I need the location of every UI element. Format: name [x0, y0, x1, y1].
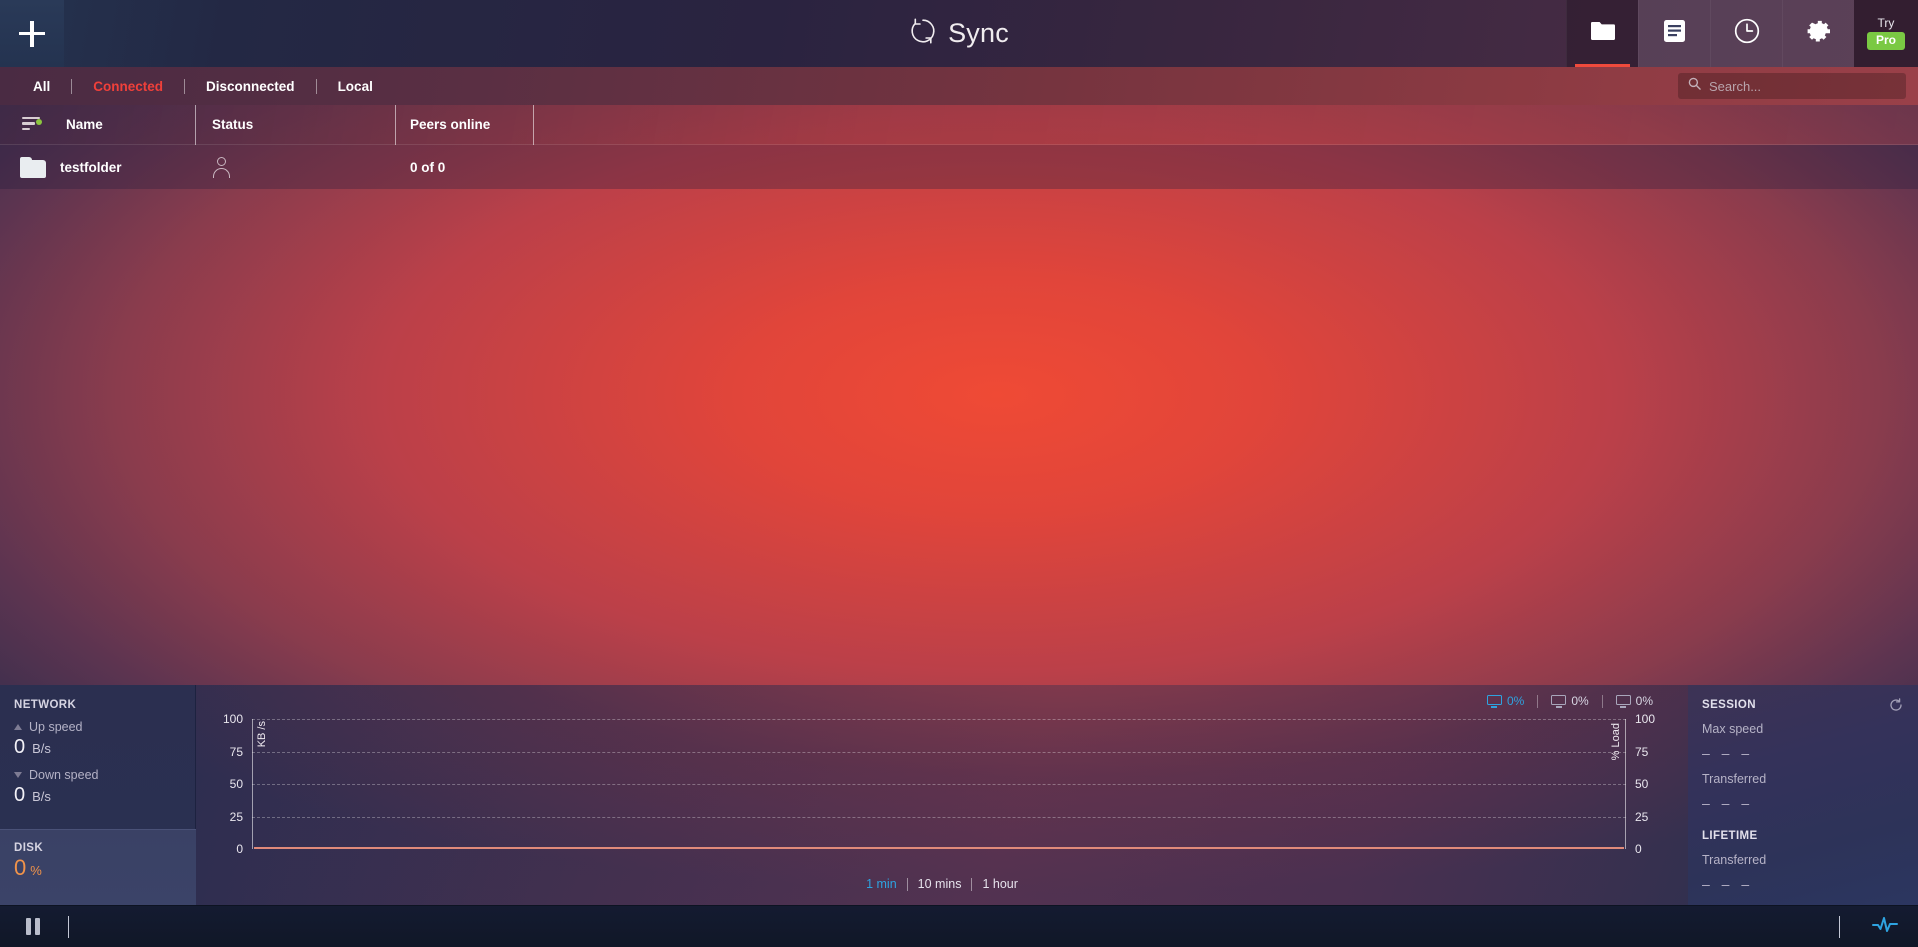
cell-name: testfolder [0, 157, 196, 178]
disk-unit: % [30, 863, 42, 878]
arrow-down-icon [14, 772, 22, 778]
session-max-speed-value: – – – [1702, 745, 1918, 761]
top-tab-group: Try Pro [1566, 0, 1918, 67]
filter-connected[interactable]: Connected [72, 79, 184, 94]
time-range-selector: 1 min 10 mins 1 hour [196, 877, 1688, 891]
status-bar-right [1839, 914, 1900, 940]
sync-app-window: Sync [0, 0, 1918, 947]
tab-history[interactable] [1710, 0, 1782, 67]
y-axis-left-label: KB /s [256, 721, 268, 747]
session-transferred-label: Transferred [1702, 772, 1918, 786]
gridline [252, 817, 1626, 818]
filter-group: All Connected Disconnected Local [0, 79, 394, 94]
document-list-icon [1664, 20, 1685, 47]
y-tick-right: 75 [1635, 745, 1648, 759]
try-pro-button[interactable]: Try Pro [1854, 0, 1918, 67]
status-bar [0, 905, 1918, 947]
y-tick-left: 50 [230, 777, 243, 791]
tab-devices[interactable] [1638, 0, 1710, 67]
gridline [252, 784, 1626, 785]
bandwidth-chart-panel: 0% 0% 0% 100 [196, 685, 1688, 905]
sort-active-dot [36, 119, 42, 125]
activity-graph-button[interactable] [1870, 914, 1900, 940]
column-header-peers-online[interactable]: Peers online [396, 105, 534, 145]
main-content: Name Status Peers online testfolder 0 of… [0, 105, 1918, 685]
y-tick-left: 75 [230, 745, 243, 759]
tab-folders[interactable] [1566, 0, 1638, 67]
session-caption: SESSION [1702, 699, 1918, 711]
up-speed-value: 0 [14, 736, 25, 759]
status-divider [1839, 916, 1840, 938]
y-axis-right-label: % Load [1610, 723, 1622, 760]
disk-value: 0 [14, 855, 26, 881]
disk-caption: DISK [14, 842, 196, 854]
pro-badge: Pro [1867, 32, 1905, 50]
status-divider [68, 916, 69, 938]
up-speed-label: Up speed [29, 720, 83, 734]
up-speed-value-row: 0 B/s [14, 736, 195, 759]
folder-table-header: Name Status Peers online [0, 105, 1918, 145]
legend-item[interactable]: 0% [1538, 694, 1601, 708]
tab-preferences[interactable] [1782, 0, 1854, 67]
sync-circle-arrow-icon [909, 17, 937, 50]
disk-panel: DISK 0 % [0, 829, 196, 905]
plus-icon [19, 21, 45, 47]
y-tick-right: 0 [1635, 842, 1642, 856]
try-label: Try [1878, 17, 1895, 29]
y-tick-right: 50 [1635, 777, 1648, 791]
folder-icon [1591, 21, 1615, 46]
filter-all[interactable]: All [12, 79, 71, 94]
session-panel: SESSION Max speed – – – Transferred – – … [1688, 685, 1918, 905]
search-icon [1688, 77, 1701, 95]
cell-status [196, 157, 396, 177]
legend-value: 0% [1507, 694, 1524, 708]
session-transferred-value: – – – [1702, 795, 1918, 811]
search-box[interactable] [1678, 73, 1906, 99]
time-range-1-min[interactable]: 1 min [856, 877, 907, 891]
folder-icon [20, 157, 46, 178]
arrow-up-icon [14, 724, 22, 730]
reset-arrow-icon[interactable] [1889, 698, 1903, 712]
up-speed-unit: B/s [32, 741, 51, 756]
session-max-speed-label: Max speed [1702, 722, 1918, 736]
app-title: Sync [948, 18, 1009, 49]
filter-disconnected[interactable]: Disconnected [185, 79, 316, 94]
y-tick-right: 100 [1635, 712, 1655, 726]
filter-bar: All Connected Disconnected Local [0, 67, 1918, 105]
activity-graph-icon [1872, 915, 1898, 938]
time-range-1-hour[interactable]: 1 hour [972, 877, 1027, 891]
time-range-10-mins[interactable]: 10 mins [908, 877, 972, 891]
down-speed-value: 0 [14, 784, 25, 807]
filter-local[interactable]: Local [317, 79, 394, 94]
up-speed-label-row: Up speed [14, 720, 195, 734]
clock-history-icon [1734, 18, 1760, 49]
pause-icon [26, 918, 40, 935]
gear-settings-icon [1806, 18, 1832, 49]
network-panel: NETWORK Up speed 0 B/s Down speed 0 B/s [0, 685, 196, 905]
chart-legend: 0% 0% 0% [1474, 694, 1666, 708]
gridline [252, 719, 1626, 720]
person-icon [212, 157, 230, 177]
y-tick-left: 25 [230, 810, 243, 824]
y-tick-right: 25 [1635, 810, 1648, 824]
legend-item[interactable]: 0% [1603, 694, 1666, 708]
disk-value-row: 0 % [14, 855, 196, 881]
add-folder-button[interactable] [0, 0, 64, 67]
down-speed-unit: B/s [32, 789, 51, 804]
legend-item[interactable]: 0% [1474, 694, 1537, 708]
monitor-icon [1487, 695, 1502, 708]
monitor-icon [1616, 695, 1631, 708]
down-speed-value-row: 0 B/s [14, 784, 195, 807]
speed-series-line [254, 847, 1624, 849]
top-bar: Sync [0, 0, 1918, 67]
down-speed-label-row: Down speed [14, 768, 195, 782]
gridline [252, 752, 1626, 753]
search-input[interactable] [1709, 79, 1896, 94]
network-caption: NETWORK [14, 699, 195, 711]
stats-row: NETWORK Up speed 0 B/s Down speed 0 B/s [0, 685, 1918, 905]
legend-value: 0% [1636, 694, 1653, 708]
cell-peers-online: 0 of 0 [396, 160, 534, 175]
y-tick-left: 0 [236, 842, 243, 856]
lifetime-transferred-label: Transferred [1702, 853, 1918, 867]
table-row[interactable]: testfolder 0 of 0 [0, 145, 1918, 189]
column-header-status[interactable]: Status [196, 105, 396, 145]
down-speed-label: Down speed [29, 768, 99, 782]
lifetime-caption: LIFETIME [1702, 830, 1918, 842]
lifetime-transferred-value: – – – [1702, 876, 1918, 892]
legend-value: 0% [1571, 694, 1588, 708]
pause-button[interactable] [18, 914, 48, 940]
folder-name-label: testfolder [60, 160, 122, 175]
chart-plot-area: 100 75 50 25 0 100 75 50 25 0 KB /s % Lo… [252, 719, 1626, 849]
monitor-icon [1551, 695, 1566, 708]
y-tick-left: 100 [223, 712, 243, 726]
